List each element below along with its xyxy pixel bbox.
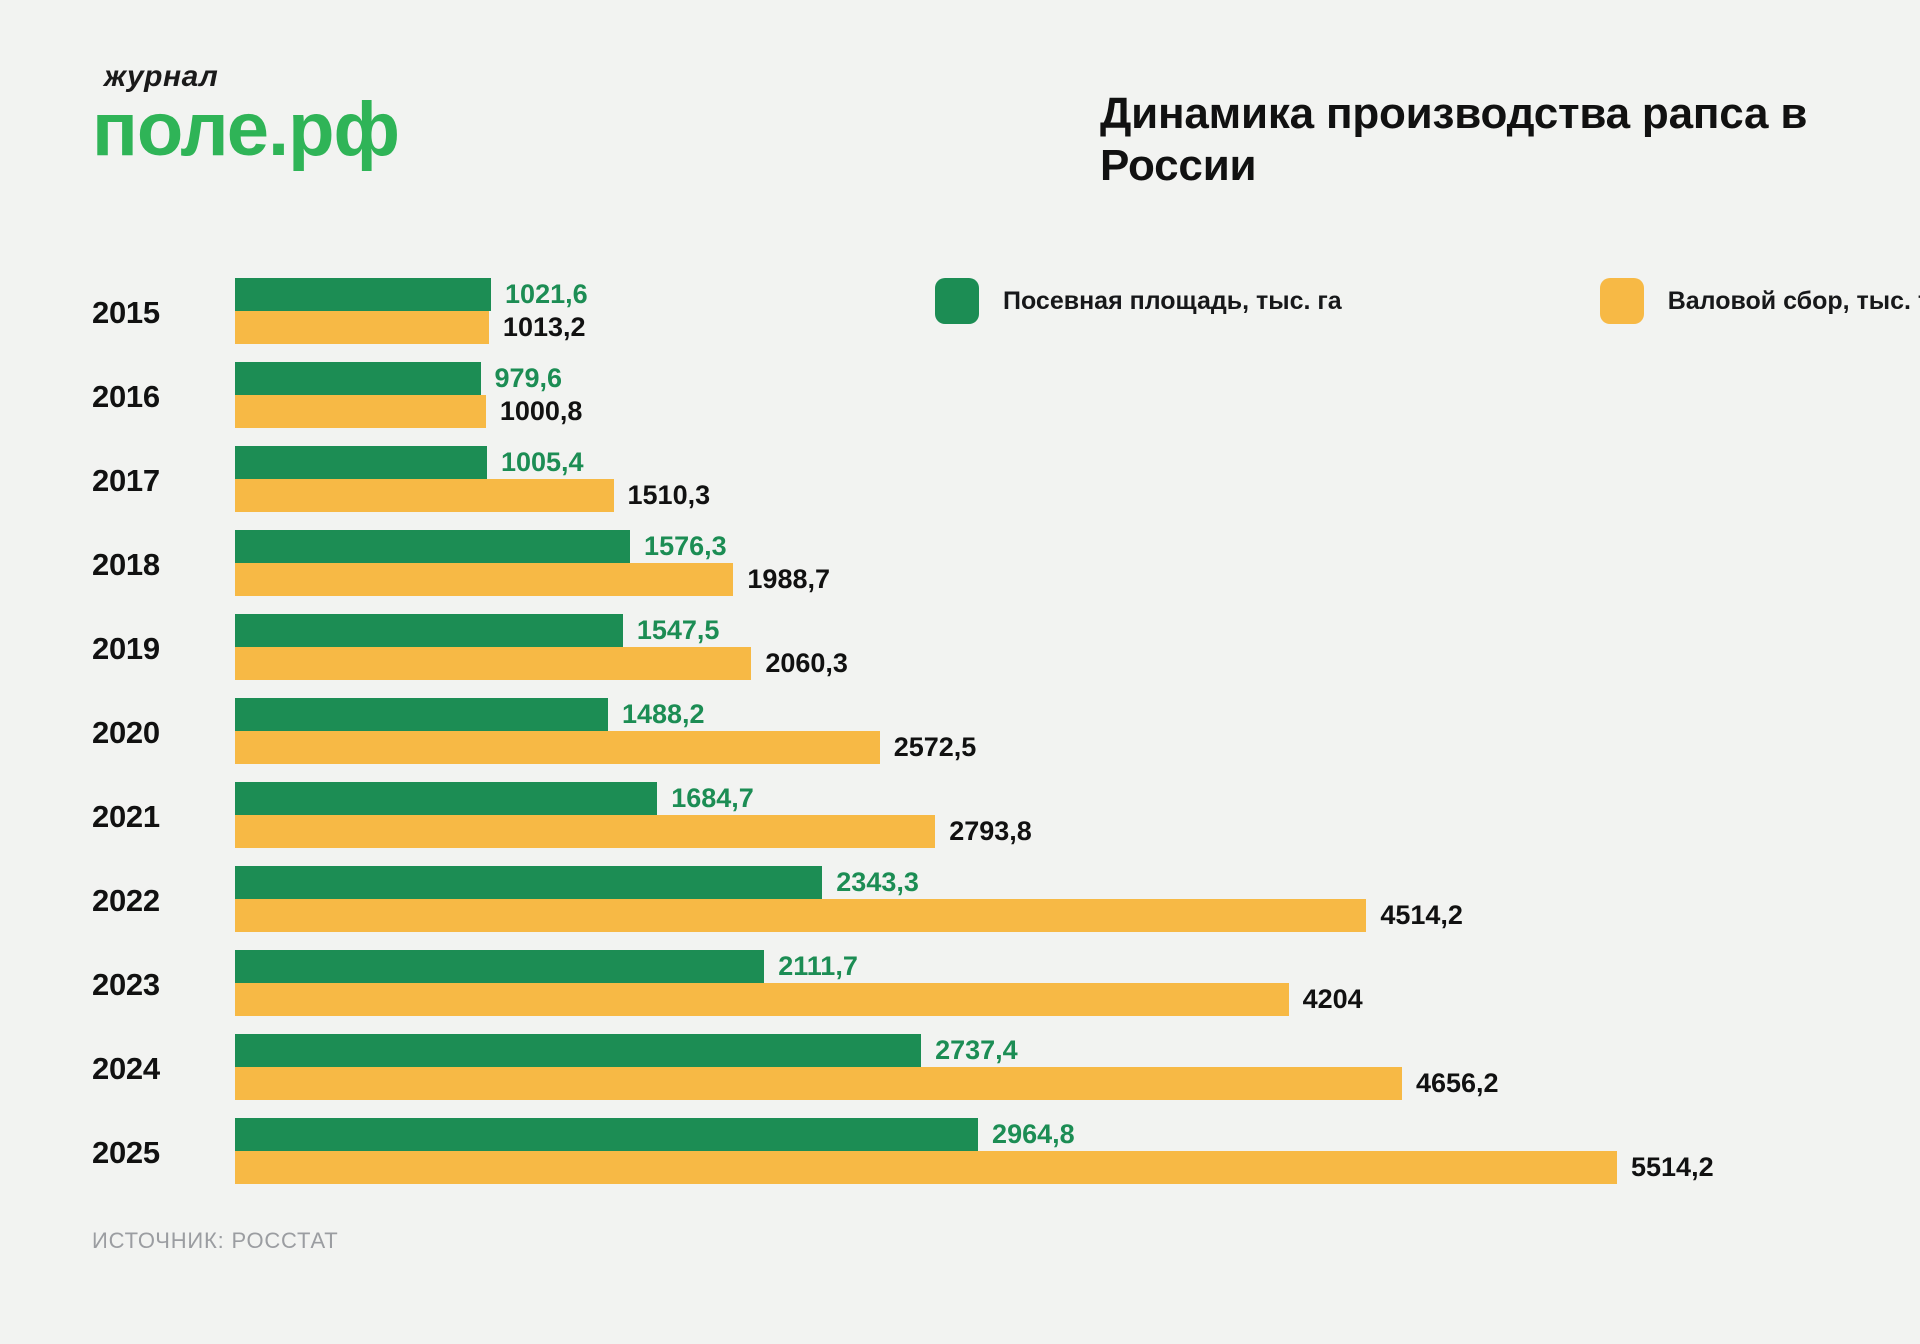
bar-area[interactable] (235, 698, 608, 731)
bar-line-yield: 2793,8 (235, 815, 1920, 848)
row-bars: 1488,22572,5 (235, 698, 1920, 764)
bar-line-area: 979,6 (235, 362, 1920, 395)
bar-value-area: 1488,2 (622, 701, 705, 728)
bar-yield[interactable] (235, 395, 486, 428)
bar-yield[interactable] (235, 983, 1289, 1016)
bar-area[interactable] (235, 1034, 921, 1067)
chart-row: 20222343,34514,2 (0, 860, 1920, 944)
row-year-label: 2019 (92, 631, 222, 667)
bar-value-yield: 4656,2 (1416, 1070, 1499, 1097)
chart-row: 20242737,44656,2 (0, 1028, 1920, 1112)
brand-name: поле.рф (92, 94, 532, 166)
bar-area[interactable] (235, 446, 487, 479)
bar-line-area: 2737,4 (235, 1034, 1920, 1067)
chart-row: 2016979,61000,8 (0, 356, 1920, 440)
row-bars: 1021,61013,2 (235, 278, 1920, 344)
bar-value-area: 1021,6 (505, 281, 588, 308)
bar-line-area: 1684,7 (235, 782, 1920, 815)
bar-value-yield: 1013,2 (503, 314, 586, 341)
chart-row: 20232111,74204 (0, 944, 1920, 1028)
bar-line-yield: 1013,2 (235, 311, 1920, 344)
source-note: ИСТОЧНИК: РОССТАТ (92, 1228, 339, 1254)
bar-yield[interactable] (235, 1067, 1402, 1100)
bar-yield[interactable] (235, 731, 880, 764)
bar-area[interactable] (235, 530, 630, 563)
bar-chart-plot: 20151021,61013,22016979,61000,820171005,… (0, 272, 1920, 1172)
bar-line-yield: 2060,3 (235, 647, 1920, 680)
chart-row: 20201488,22572,5 (0, 692, 1920, 776)
bar-yield[interactable] (235, 311, 489, 344)
bar-yield[interactable] (235, 899, 1366, 932)
row-year-label: 2017 (92, 463, 222, 499)
bar-value-yield: 2572,5 (894, 734, 977, 761)
bar-area[interactable] (235, 362, 481, 395)
row-year-label: 2021 (92, 799, 222, 835)
row-bars: 2343,34514,2 (235, 866, 1920, 932)
bar-value-yield: 1988,7 (747, 566, 830, 593)
bar-line-area: 1005,4 (235, 446, 1920, 479)
bar-line-yield: 1510,3 (235, 479, 1920, 512)
bar-line-yield: 1988,7 (235, 563, 1920, 596)
row-bars: 979,61000,8 (235, 362, 1920, 428)
row-year-label: 2016 (92, 379, 222, 415)
bar-area[interactable] (235, 866, 822, 899)
bar-value-area: 2343,3 (836, 869, 919, 896)
row-bars: 1005,41510,3 (235, 446, 1920, 512)
bar-value-yield: 4514,2 (1380, 902, 1463, 929)
bar-line-yield: 2572,5 (235, 731, 1920, 764)
bar-line-area: 2343,3 (235, 866, 1920, 899)
bar-yield[interactable] (235, 1151, 1617, 1184)
row-year-label: 2022 (92, 883, 222, 919)
bar-value-area: 1684,7 (671, 785, 754, 812)
bar-line-area: 1576,3 (235, 530, 1920, 563)
bar-value-area: 1005,4 (501, 449, 584, 476)
bar-area[interactable] (235, 782, 657, 815)
bar-value-yield: 4204 (1303, 986, 1363, 1013)
bar-value-yield: 5514,2 (1631, 1154, 1714, 1181)
bar-line-area: 2964,8 (235, 1118, 1920, 1151)
row-year-label: 2015 (92, 295, 222, 331)
chart-row: 20211684,72793,8 (0, 776, 1920, 860)
bar-yield[interactable] (235, 815, 935, 848)
bar-line-area: 1488,2 (235, 698, 1920, 731)
bar-line-area: 2111,7 (235, 950, 1920, 983)
bar-line-area: 1021,6 (235, 278, 1920, 311)
bar-value-area: 2964,8 (992, 1121, 1075, 1148)
page-title: Динамика производства рапса в России (1100, 88, 1820, 192)
chart-row: 20151021,61013,2 (0, 272, 1920, 356)
bar-line-yield: 4656,2 (235, 1067, 1920, 1100)
brand-logo: журнал поле.рф (92, 62, 532, 166)
row-year-label: 2024 (92, 1051, 222, 1087)
row-bars: 1684,72793,8 (235, 782, 1920, 848)
bar-value-area: 1576,3 (644, 533, 727, 560)
bar-value-yield: 1000,8 (500, 398, 583, 425)
bar-value-yield: 1510,3 (628, 482, 711, 509)
bar-area[interactable] (235, 950, 764, 983)
bar-yield[interactable] (235, 647, 751, 680)
row-year-label: 2020 (92, 715, 222, 751)
bar-value-yield: 2060,3 (765, 650, 848, 677)
infographic-root: журнал поле.рф Динамика производства рап… (0, 0, 1920, 1344)
bar-value-area: 2737,4 (935, 1037, 1018, 1064)
row-bars: 2111,74204 (235, 950, 1920, 1016)
bar-value-area: 1547,5 (637, 617, 720, 644)
row-bars: 2964,85514,2 (235, 1118, 1920, 1184)
chart-row: 20191547,52060,3 (0, 608, 1920, 692)
chart-row: 20171005,41510,3 (0, 440, 1920, 524)
bar-area[interactable] (235, 278, 491, 311)
bar-line-area: 1547,5 (235, 614, 1920, 647)
row-bars: 1547,52060,3 (235, 614, 1920, 680)
bar-value-area: 979,6 (495, 365, 563, 392)
bar-yield[interactable] (235, 563, 733, 596)
bar-area[interactable] (235, 1118, 978, 1151)
chart-row: 20252964,85514,2 (0, 1112, 1920, 1196)
row-year-label: 2023 (92, 967, 222, 1003)
bar-line-yield: 4204 (235, 983, 1920, 1016)
chart-row: 20181576,31988,7 (0, 524, 1920, 608)
row-year-label: 2018 (92, 547, 222, 583)
bar-area[interactable] (235, 614, 623, 647)
row-bars: 2737,44656,2 (235, 1034, 1920, 1100)
bar-yield[interactable] (235, 479, 614, 512)
row-year-label: 2025 (92, 1135, 222, 1171)
bar-line-yield: 4514,2 (235, 899, 1920, 932)
bar-line-yield: 1000,8 (235, 395, 1920, 428)
bar-line-yield: 5514,2 (235, 1151, 1920, 1184)
bar-value-yield: 2793,8 (949, 818, 1032, 845)
row-bars: 1576,31988,7 (235, 530, 1920, 596)
bar-value-area: 2111,7 (778, 953, 858, 980)
